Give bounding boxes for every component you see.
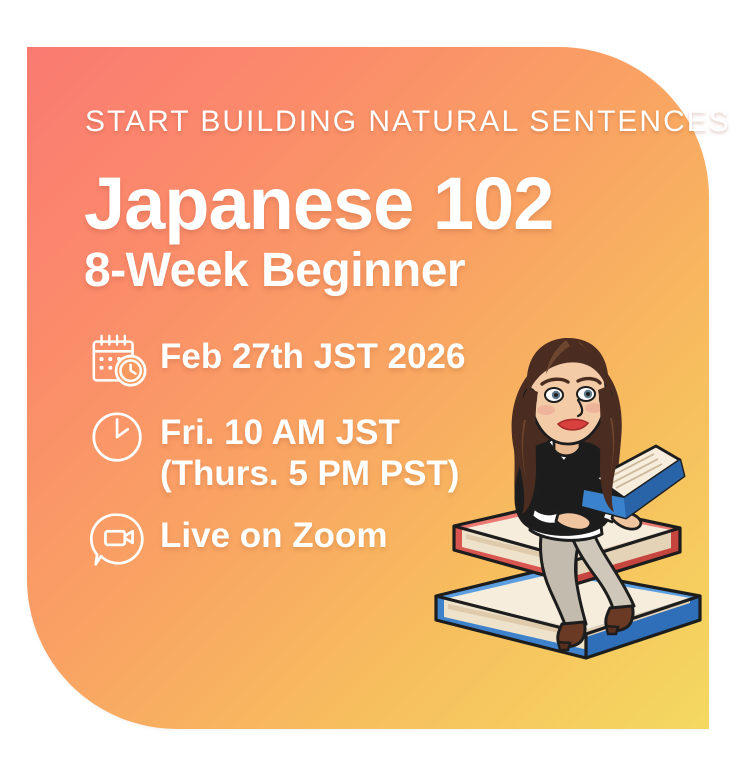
video-chat-icon: [88, 509, 150, 571]
page-title: Japanese 102: [84, 168, 553, 240]
avatar: [418, 328, 708, 673]
page-subtitle: 8-Week Beginner: [84, 248, 553, 295]
woman-reading-on-book-stack-illustration: [418, 328, 708, 673]
poster-stage: START BUILDING NATURAL SENTENCES Japanes…: [0, 0, 742, 757]
eyebrow-text: START BUILDING NATURAL SENTENCES: [85, 105, 731, 139]
clock-icon: [88, 406, 150, 470]
calendar-clock-icon: [88, 330, 150, 392]
headline-block: Japanese 102 8-Week Beginner: [84, 168, 553, 294]
detail-text-platform: Live on Zoom: [160, 509, 388, 556]
detail-text-time: Fri. 10 AM JST (Thurs. 5 PM PST): [160, 406, 459, 495]
